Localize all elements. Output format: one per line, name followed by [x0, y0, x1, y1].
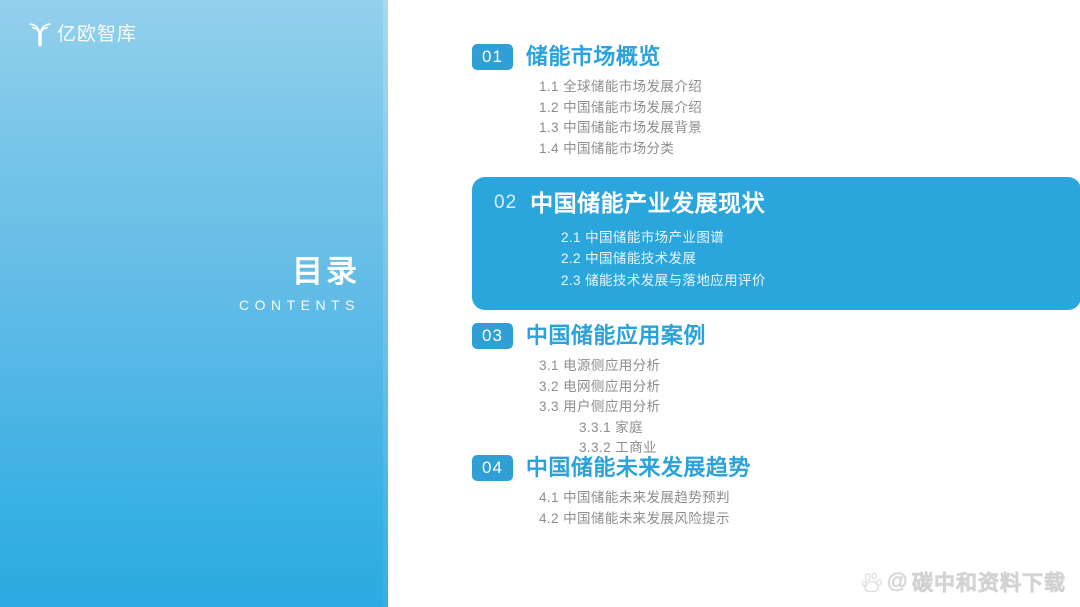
- toc-section-02-active[interactable]: 02 中国储能产业发展现状 2.1 中国储能市场产业图谱 2.2 中国储能技术发…: [472, 177, 1080, 310]
- sprout-logo-icon: [28, 21, 52, 47]
- brand-name: 亿欧智库: [57, 25, 137, 44]
- at-symbol: @: [887, 570, 909, 594]
- section-number-badge: 02: [494, 189, 517, 218]
- section-title: 中国储能应用案例: [526, 323, 706, 349]
- section-title: 中国储能未来发展趋势: [526, 455, 751, 481]
- section-items: 3.1 电源侧应用分析 3.2 电网侧应用分析 3.3 用户侧应用分析 3.3.…: [472, 356, 706, 458]
- toc-item[interactable]: 3.1 电源侧应用分析: [539, 356, 706, 376]
- section-items: 2.1 中国储能市场产业图谱 2.2 中国储能技术发展 2.3 储能技术发展与落…: [472, 227, 1080, 292]
- toc-item[interactable]: 1.1 全球储能市场发展介绍: [539, 77, 702, 97]
- toc-subitem[interactable]: 3.3.1 家庭: [539, 418, 706, 438]
- toc-section-03[interactable]: 03 中国储能应用案例 3.1 电源侧应用分析 3.2 电网侧应用分析 3.3 …: [472, 323, 706, 458]
- section-items: 4.1 中国储能未来发展趋势预判 4.2 中国储能未来发展风险提示: [472, 488, 751, 529]
- section-number-badge: 03: [472, 323, 513, 349]
- page-subtitle: CONTENTS: [0, 297, 360, 313]
- watermark-text: 碳中和资料下载: [912, 567, 1066, 597]
- section-items: 1.1 全球储能市场发展介绍 1.2 中国储能市场发展介绍 1.3 中国储能市场…: [472, 77, 702, 159]
- brand-logo: 亿欧智库: [28, 21, 137, 47]
- section-header: 02 中国储能产业发展现状: [472, 189, 1080, 218]
- toc-item[interactable]: 1.3 中国储能市场发展背景: [539, 118, 702, 138]
- toc-section-04[interactable]: 04 中国储能未来发展趋势 4.1 中国储能未来发展趋势预判 4.2 中国储能未…: [472, 455, 751, 529]
- watermark: @ 碳中和资料下载: [862, 567, 1066, 597]
- toc-item[interactable]: 2.3 储能技术发展与落地应用评价: [561, 270, 1080, 292]
- section-title: 储能市场概览: [526, 44, 661, 70]
- section-header: 03 中国储能应用案例: [472, 323, 706, 349]
- toc-item[interactable]: 4.2 中国储能未来发展风险提示: [539, 509, 751, 529]
- section-number-badge: 04: [472, 455, 513, 481]
- toc-item[interactable]: 3.2 电网侧应用分析: [539, 377, 706, 397]
- contents-list: 01 储能市场概览 1.1 全球储能市场发展介绍 1.2 中国储能市场发展介绍 …: [388, 0, 1080, 607]
- toc-section-01[interactable]: 01 储能市场概览 1.1 全球储能市场发展介绍 1.2 中国储能市场发展介绍 …: [472, 44, 702, 159]
- toc-item[interactable]: 2.2 中国储能技术发展: [561, 248, 1080, 270]
- left-cover-panel: 亿欧智库 目录 CONTENTS: [0, 0, 388, 607]
- section-number-badge: 01: [472, 44, 513, 70]
- section-title: 中国储能产业发展现状: [530, 190, 765, 218]
- toc-item[interactable]: 3.3 用户侧应用分析: [539, 397, 706, 417]
- section-header: 04 中国储能未来发展趋势: [472, 455, 751, 481]
- baidu-paw-icon: [862, 571, 884, 593]
- page-title: 目录: [0, 255, 360, 289]
- toc-item[interactable]: 4.1 中国储能未来发展趋势预判: [539, 488, 751, 508]
- toc-item[interactable]: 1.4 中国储能市场分类: [539, 139, 702, 159]
- section-header: 01 储能市场概览: [472, 44, 702, 70]
- contents-title-block: 目录 CONTENTS: [0, 255, 360, 313]
- toc-item[interactable]: 2.1 中国储能市场产业图谱: [561, 227, 1080, 249]
- toc-item[interactable]: 1.2 中国储能市场发展介绍: [539, 98, 702, 118]
